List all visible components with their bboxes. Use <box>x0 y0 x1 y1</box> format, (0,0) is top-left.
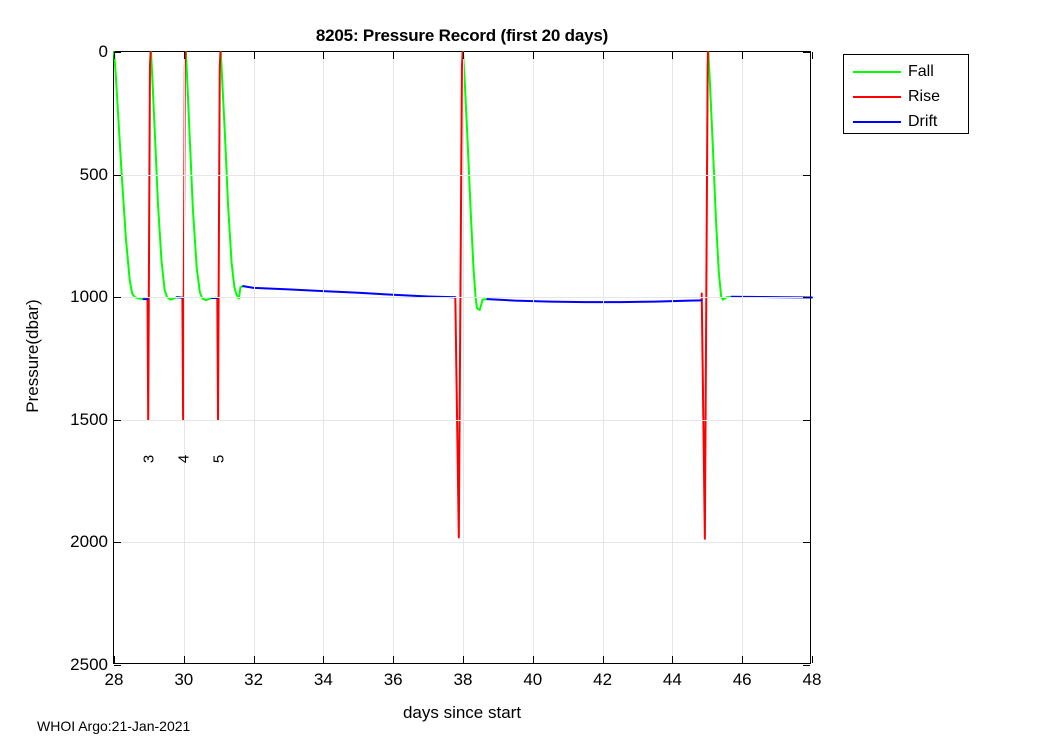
y-axis-tick-label: 1500 <box>70 410 108 430</box>
x-gridline <box>254 52 255 663</box>
x-axis-tick <box>323 656 324 663</box>
x-gridline <box>742 52 743 663</box>
legend-label: Rise <box>908 85 940 109</box>
legend-swatch-rise <box>853 96 901 98</box>
x-axis-tick <box>742 656 743 663</box>
source-credit: WHOI Argo:21-Jan-2021 <box>37 718 190 734</box>
x-axis-tick <box>114 656 115 663</box>
series-line-fall <box>151 52 180 300</box>
y-axis-tick <box>803 52 810 53</box>
series-line-drift <box>487 299 701 302</box>
x-gridline <box>184 52 185 663</box>
y-axis-tick <box>114 52 121 53</box>
x-axis-tick-label: 48 <box>803 670 822 690</box>
legend-label: Drift <box>908 110 937 134</box>
y-axis-tick <box>114 420 121 421</box>
series-line-rise <box>148 52 151 420</box>
y-axis-tick <box>803 542 810 543</box>
y-axis-tick <box>114 542 121 543</box>
x-axis-title: days since start <box>403 703 521 723</box>
x-axis-tick <box>184 656 185 663</box>
x-gridline <box>603 52 604 663</box>
legend-item-fall[interactable]: Fall <box>844 59 968 85</box>
y-axis-tick <box>114 297 121 298</box>
y-gridline <box>114 420 810 421</box>
y-axis-title: Pressure(dbar) <box>23 299 43 412</box>
x-axis-tick <box>323 52 324 59</box>
y-axis-tick-label: 2500 <box>70 655 108 675</box>
x-axis-tick <box>812 52 813 59</box>
series-line-fall <box>463 52 487 310</box>
x-gridline <box>533 52 534 663</box>
x-gridline <box>672 52 673 663</box>
x-axis-tick-label: 28 <box>105 670 124 690</box>
legend-label: Fall <box>908 60 934 84</box>
y-axis-tick-label: 0 <box>99 42 108 62</box>
legend-item-rise[interactable]: Rise <box>844 84 968 110</box>
x-axis-tick <box>254 52 255 59</box>
x-axis-tick <box>463 52 464 59</box>
y-axis-tick <box>803 420 810 421</box>
x-axis-tick <box>254 656 255 663</box>
legend-swatch-drift <box>853 121 901 123</box>
y-axis-tick <box>803 665 810 666</box>
profile-number-label: 4 <box>175 455 192 463</box>
x-axis-tick-label: 36 <box>384 670 403 690</box>
figure-canvas: 8205: Pressure Record (first 20 days) 05… <box>0 0 1050 750</box>
y-axis-tick <box>114 175 121 176</box>
x-axis-tick <box>393 656 394 663</box>
y-axis-tick <box>803 175 810 176</box>
x-axis-tick-label: 32 <box>244 670 263 690</box>
series-line-drift <box>243 286 455 297</box>
y-axis-tick <box>114 665 121 666</box>
x-axis-tick <box>533 656 534 663</box>
y-axis-tick-label: 2000 <box>70 532 108 552</box>
series-line-rise <box>217 52 220 420</box>
x-axis-tick <box>393 52 394 59</box>
y-gridline <box>114 175 810 176</box>
x-gridline <box>323 52 324 663</box>
series-line-rise <box>702 52 708 539</box>
x-gridline <box>393 52 394 663</box>
x-axis-tick <box>533 52 534 59</box>
legend-item-drift[interactable]: Drift <box>844 109 968 135</box>
y-axis-tick <box>803 297 810 298</box>
series-line-fall <box>708 52 731 300</box>
profile-number-label: 5 <box>210 455 227 463</box>
x-axis-tick <box>114 52 115 59</box>
x-gridline <box>463 52 464 663</box>
legend: FallRiseDrift <box>843 54 969 134</box>
x-axis-tick-label: 46 <box>733 670 752 690</box>
page-title: 8205: Pressure Record (first 20 days) <box>113 26 811 46</box>
x-axis-tick <box>672 656 673 663</box>
x-axis-tick <box>672 52 673 59</box>
series-line-rise <box>455 52 462 538</box>
x-axis-tick <box>812 656 813 663</box>
x-axis-tick-label: 34 <box>314 670 333 690</box>
x-axis-tick-label: 40 <box>523 670 542 690</box>
y-axis-tick-label: 500 <box>80 165 108 185</box>
x-axis-tick <box>603 52 604 59</box>
x-axis-tick-label: 38 <box>454 670 473 690</box>
profile-number-label: 3 <box>140 455 157 463</box>
x-axis-tick <box>184 52 185 59</box>
y-gridline <box>114 542 810 543</box>
x-axis-tick-label: 30 <box>174 670 193 690</box>
y-axis-tick-label: 1000 <box>70 287 108 307</box>
x-axis-tick-label: 42 <box>593 670 612 690</box>
x-axis-tick <box>742 52 743 59</box>
legend-swatch-fall <box>853 71 901 73</box>
x-axis-tick <box>603 656 604 663</box>
plot-axes: 0500100015002000250028303234363840424446… <box>113 51 811 664</box>
x-axis-tick <box>463 656 464 663</box>
series-line-fall <box>186 52 216 300</box>
x-axis-tick-label: 44 <box>663 670 682 690</box>
y-gridline <box>114 297 810 298</box>
